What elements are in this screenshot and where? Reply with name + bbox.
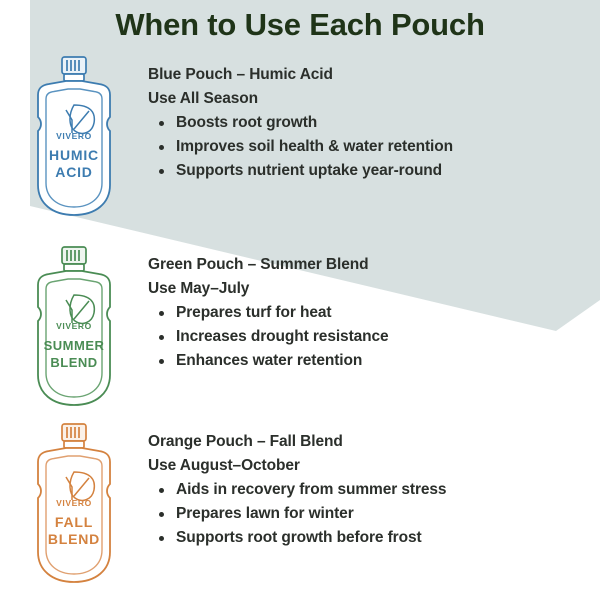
list-item: Improves soil health & water retention <box>148 135 590 159</box>
benefit-list-orange: Aids in recovery from summer stress Prep… <box>148 478 590 550</box>
infographic-page: When to Use Each Pouch <box>0 0 600 600</box>
pouch-label-line2-blue: ACID <box>55 164 92 180</box>
pouch-brand-green: VIVERO <box>56 321 92 331</box>
pouch-brand-orange: VIVERO <box>56 498 92 508</box>
list-item: Supports nutrient uptake year-round <box>148 159 590 183</box>
bullet-dot-icon <box>159 335 164 340</box>
benefit-list-blue: Boosts root growth Improves soil health … <box>148 111 590 183</box>
bullet-dot-icon <box>159 121 164 126</box>
list-item-label: Enhances water retention <box>176 352 362 369</box>
bullet-dot-icon <box>159 359 164 364</box>
text-block-orange: Orange Pouch – Fall Blend Use August–Oct… <box>148 422 600 550</box>
pouch-label-line2-green: BLEND <box>50 355 97 370</box>
bullet-dot-icon <box>159 536 164 541</box>
list-item-label: Increases drought resistance <box>176 328 389 345</box>
list-item-label: Aids in recovery from summer stress <box>176 481 446 498</box>
section-heading-orange: Orange Pouch – Fall Blend <box>148 430 590 454</box>
pouch-illustration-green: VIVERO SUMMER BLEND <box>0 245 148 413</box>
section-subheading-blue: Use All Season <box>148 87 590 111</box>
pouch-cap-orange <box>62 424 86 448</box>
text-block-green: Green Pouch – Summer Blend Use May–July … <box>148 245 600 373</box>
page-title: When to Use Each Pouch <box>0 6 600 44</box>
pouch-brand-blue: VIVERO <box>56 131 92 141</box>
section-orange-pouch: VIVERO FALL BLEND Orange Pouch – Fall Bl… <box>0 422 600 590</box>
section-subheading-orange: Use August–October <box>148 454 590 478</box>
pouch-label-line1-blue: HUMIC <box>49 147 99 163</box>
pouch-label-line1-green: SUMMER <box>44 338 105 353</box>
pouch-cap-blue <box>62 57 86 81</box>
bullet-dot-icon <box>159 488 164 493</box>
pouch-label-line2-orange: BLEND <box>48 531 100 547</box>
list-item: Supports root growth before frost <box>148 526 590 550</box>
list-item-label: Supports root growth before frost <box>176 529 422 546</box>
list-item-label: Prepares turf for heat <box>176 304 331 321</box>
section-subheading-green: Use May–July <box>148 277 590 301</box>
benefit-list-green: Prepares turf for heat Increases drought… <box>148 301 590 373</box>
list-item: Prepares lawn for winter <box>148 502 590 526</box>
list-item-label: Prepares lawn for winter <box>176 505 354 522</box>
list-item: Increases drought resistance <box>148 325 590 349</box>
pouch-illustration-orange: VIVERO FALL BLEND <box>0 422 148 590</box>
bullet-dot-icon <box>159 512 164 517</box>
bullet-dot-icon <box>159 145 164 150</box>
section-heading-green: Green Pouch – Summer Blend <box>148 253 590 277</box>
section-heading-blue: Blue Pouch – Humic Acid <box>148 63 590 87</box>
pouch-label-line1-orange: FALL <box>55 514 93 530</box>
section-blue-pouch: VIVERO HUMIC ACID Blue Pouch – Humic Aci… <box>0 55 600 223</box>
section-green-pouch: VIVERO SUMMER BLEND Green Pouch – Summer… <box>0 245 600 413</box>
pouch-illustration-blue: VIVERO HUMIC ACID <box>0 55 148 223</box>
bullet-dot-icon <box>159 311 164 316</box>
list-item-label: Improves soil health & water retention <box>176 138 453 155</box>
pouch-cap-green <box>62 247 86 271</box>
list-item-label: Supports nutrient uptake year-round <box>176 162 442 179</box>
list-item: Boosts root growth <box>148 111 590 135</box>
bullet-dot-icon <box>159 169 164 174</box>
list-item: Enhances water retention <box>148 349 590 373</box>
list-item-label: Boosts root growth <box>176 114 317 131</box>
list-item: Aids in recovery from summer stress <box>148 478 590 502</box>
list-item: Prepares turf for heat <box>148 301 590 325</box>
text-block-blue: Blue Pouch – Humic Acid Use All Season B… <box>148 55 600 183</box>
